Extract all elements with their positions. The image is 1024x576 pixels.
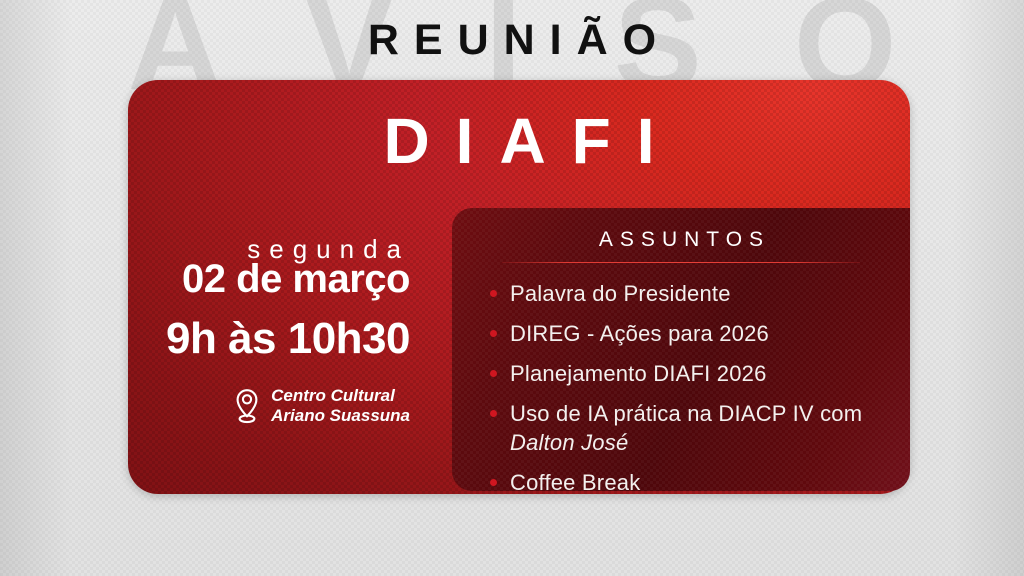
topics-list: Palavra do PresidenteDIREG - Ações para … — [478, 279, 884, 491]
topic-list-item: Coffee Break — [510, 468, 884, 491]
topic-label: Palavra do Presidente — [510, 281, 731, 306]
topic-label: DIREG - Ações para 2026 — [510, 321, 769, 346]
page-title: REUNIÃO — [0, 16, 1024, 65]
topics-title: ASSUNTOS — [478, 228, 884, 252]
poster-canvas: AVISO REUNIÃO DIAFI segunda 02 de março … — [0, 0, 1024, 576]
event-time: 9h às 10h30 — [128, 315, 410, 363]
card-title-diafi: DIAFI — [128, 104, 910, 178]
bullet-icon — [490, 410, 497, 417]
bullet-icon — [490, 330, 497, 337]
bullet-icon — [490, 290, 497, 297]
topic-label: Uso de IA prática na DIACP IV com — [510, 401, 862, 426]
topic-speaker-name: Dalton José — [510, 430, 628, 455]
topics-panel: ASSUNTOS Palavra do PresidenteDIREG - Aç… — [452, 208, 910, 491]
topic-label: Coffee Break — [510, 470, 640, 491]
topic-list-item: DIREG - Ações para 2026 — [510, 319, 884, 348]
bullet-icon — [490, 479, 497, 486]
topics-divider — [502, 262, 860, 263]
venue-name: Centro Cultural Ariano Suassuna — [271, 386, 410, 427]
topic-list-item: Planejamento DIAFI 2026 — [510, 359, 884, 388]
event-venue: Centro Cultural Ariano Suassuna — [128, 386, 410, 427]
event-info-block: segunda 02 de março 9h às 10h30 Centro C… — [128, 236, 424, 427]
bullet-icon — [490, 370, 497, 377]
topic-list-item: Palavra do Presidente — [510, 279, 884, 308]
topic-label: Planejamento DIAFI 2026 — [510, 361, 767, 386]
event-date: 02 de março — [128, 258, 410, 301]
topic-list-item: Uso de IA prática na DIACP IV com Dalton… — [510, 399, 884, 457]
map-pin-icon — [232, 387, 262, 425]
